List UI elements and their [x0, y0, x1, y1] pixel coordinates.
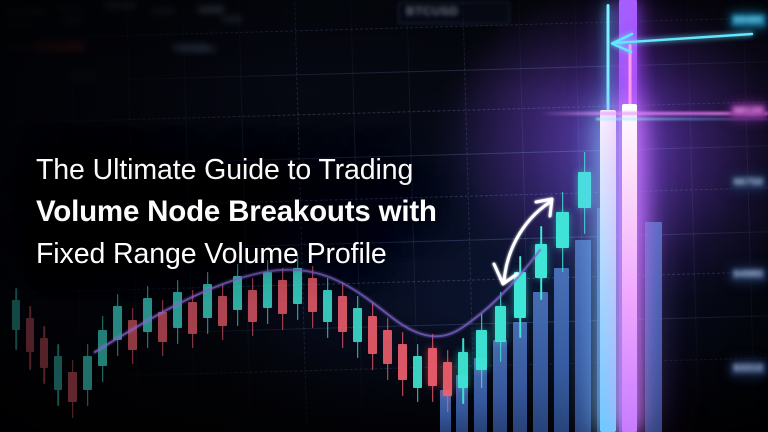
- title-line-3: Fixed Range Volume Profile: [36, 234, 437, 274]
- price-axis-label[interactable]: 63310: [731, 362, 766, 375]
- breakout-arrow-icon: [600, 26, 768, 62]
- price-axis-label[interactable]: 66750: [731, 176, 766, 189]
- price-axis-label[interactable]: 64980: [731, 268, 766, 281]
- range-arrow-icon: [486, 186, 572, 296]
- chart-banner: BTCUSD 6948068120667506498063310: [0, 0, 768, 432]
- page-title: The Ultimate Guide to Trading Volume Nod…: [36, 150, 437, 274]
- title-line-2: Volume Node Breakouts with: [36, 192, 437, 232]
- price-axis-label[interactable]: 68120: [731, 105, 766, 118]
- title-line-1: The Ultimate Guide to Trading: [36, 150, 437, 190]
